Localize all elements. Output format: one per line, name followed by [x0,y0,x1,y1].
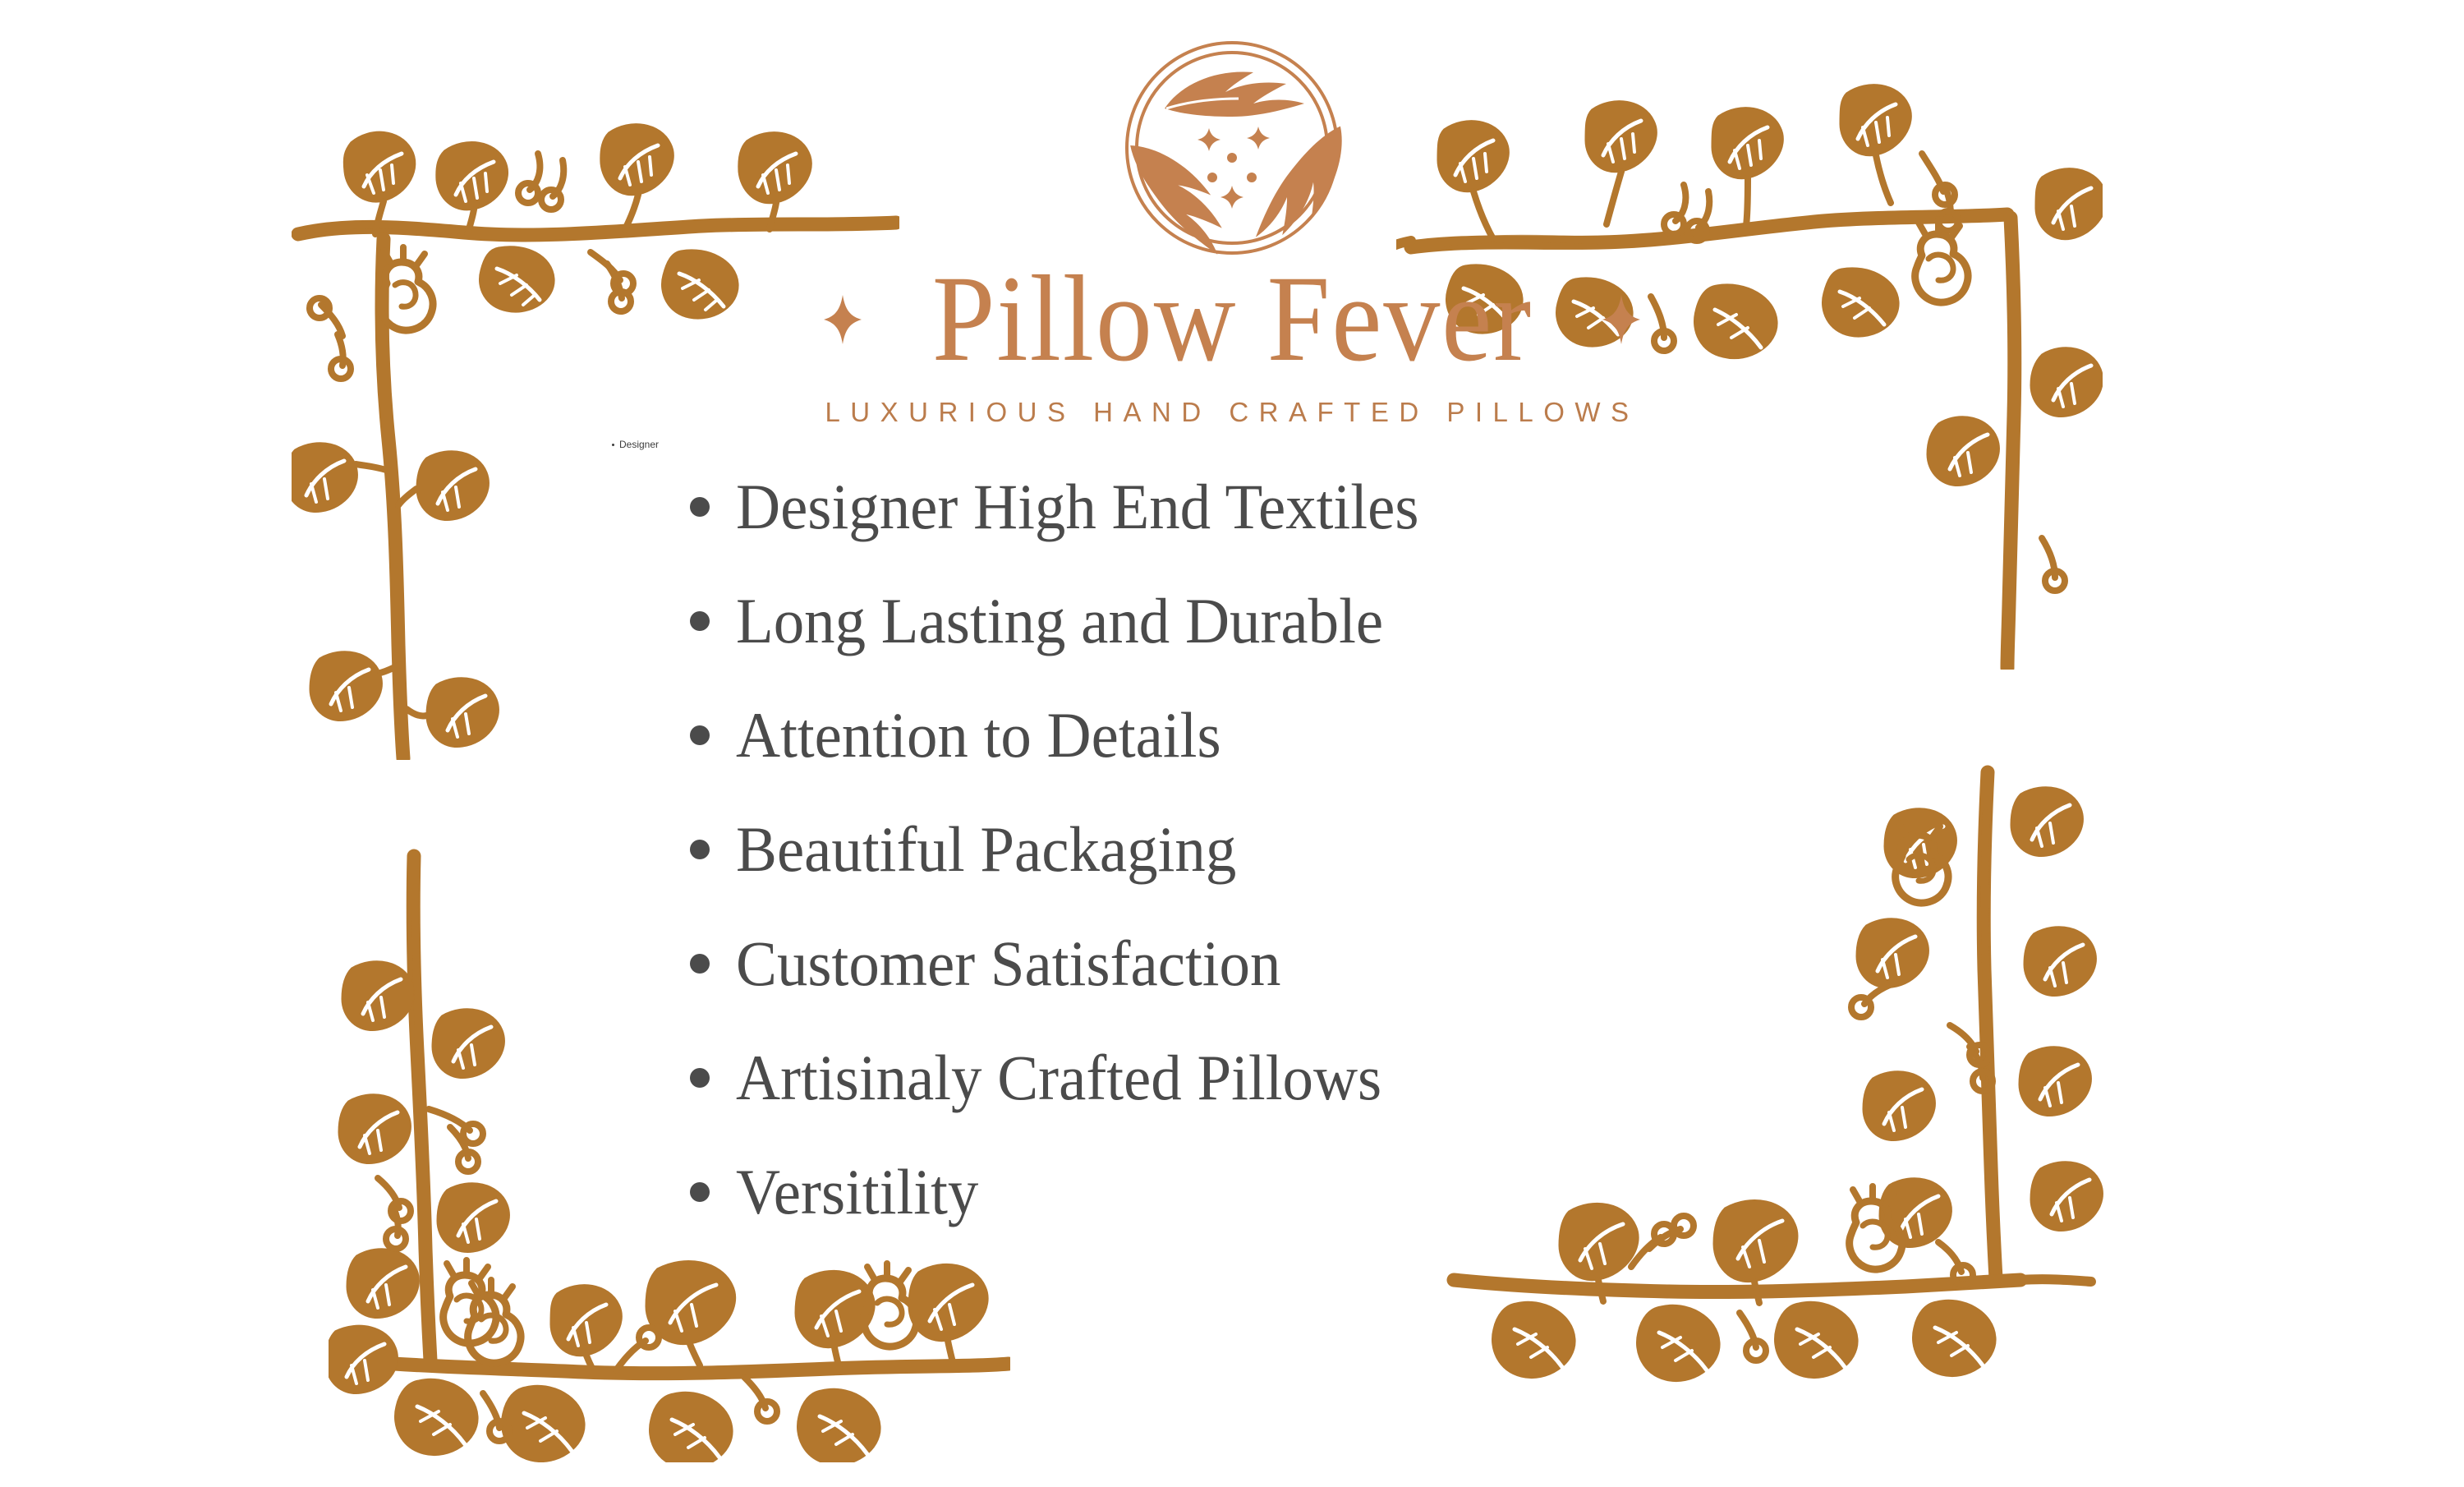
list-item: Long Lasting and Durable [690,589,1840,703]
feature-label: Customer Satisfaction [736,932,1280,996]
bullet-dot-icon [690,954,710,974]
stray-designer-note: Designer [612,439,659,450]
sparkle-diamond-icon [1602,295,1640,344]
feature-label: Artisinaly Crafted Pillows [736,1046,1381,1110]
list-item: Designer High End Textiles [690,475,1840,589]
list-item: Customer Satisfaction [690,932,1840,1046]
bullet-dot-icon [690,725,710,745]
feature-list: Designer High End Textiles Long Lasting … [690,475,1840,1274]
list-item: Attention to Details [690,703,1840,817]
stray-bullet-dot [612,444,614,446]
brand-tagline: LUXURIOUS HAND CRAFTED PILLOWS [0,397,2464,428]
list-item: Versitility [690,1160,1840,1274]
feature-label: Designer High End Textiles [736,475,1418,539]
feather-trio-circle-emblem-icon [1117,33,1347,263]
bullet-dot-icon [690,1068,710,1088]
bullet-dot-icon [690,840,710,859]
brand-name-row: Pillow Fever [0,256,2464,382]
bullet-dot-icon [690,1182,710,1202]
list-item: Beautiful Packaging [690,817,1840,932]
slide-canvas: Pillow Fever LUXURIOUS HAND CRAFTED PILL… [0,0,2464,1487]
brand-block: Pillow Fever LUXURIOUS HAND CRAFTED PILL… [0,33,2464,428]
list-item: Artisinaly Crafted Pillows [690,1046,1840,1160]
bullet-dot-icon [690,497,710,517]
sparkle-diamond-icon [824,295,862,344]
stray-note-label: Designer [619,439,659,450]
bullet-dot-icon [690,611,710,631]
brand-name: Pillow Fever [931,256,1532,382]
feature-label: Long Lasting and Durable [736,589,1383,653]
feature-label: Beautiful Packaging [736,817,1236,882]
feature-label: Versitility [736,1160,978,1224]
feature-label: Attention to Details [736,703,1221,767]
